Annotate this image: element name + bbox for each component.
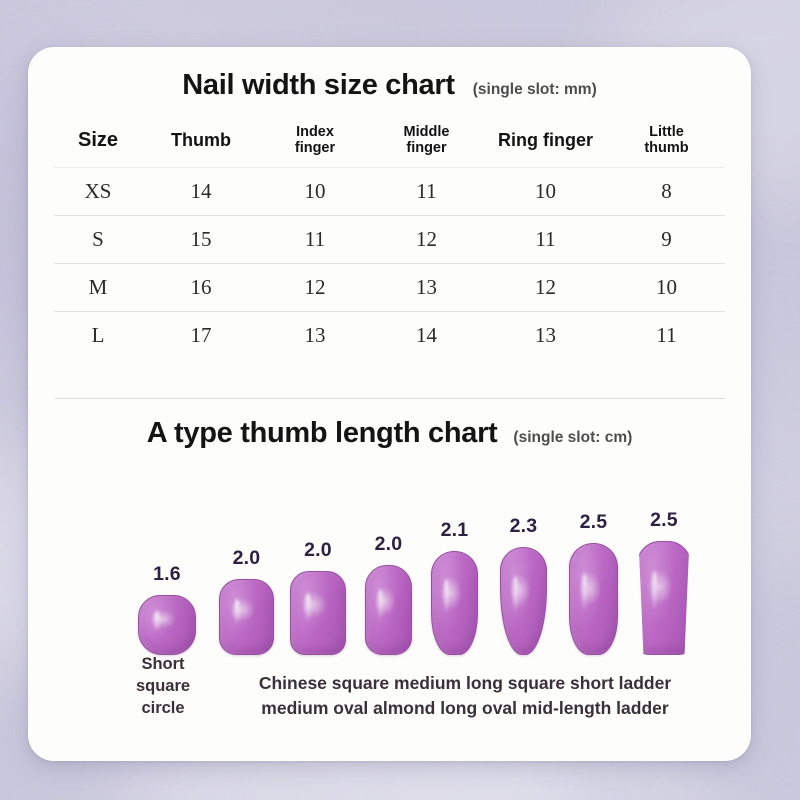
column-header-index-line2: finger: [295, 140, 335, 156]
cell-middle: 11: [370, 167, 483, 215]
column-header-ring-line1: Ring finger: [498, 130, 593, 150]
column-header-little-line2: thumb: [644, 140, 688, 156]
nail-item-1: 1.6: [138, 563, 196, 655]
caption-shape-names-line1: Chinese square medium long square short …: [210, 671, 720, 696]
cell-ring: 11: [483, 215, 608, 263]
nail-item-5: 2.1: [431, 519, 478, 655]
length-section-header: A type thumb length chart (single slot: …: [28, 417, 751, 450]
cell-little: 8: [608, 167, 725, 215]
nail-length-value: 2.0: [233, 547, 261, 570]
nail-length-section: A type thumb length chart (single slot: …: [28, 399, 751, 761]
cell-middle: 12: [370, 215, 483, 263]
cell-little: 11: [608, 311, 725, 359]
column-header-size: Size: [54, 115, 142, 167]
cell-middle: 14: [370, 311, 483, 359]
cell-thumb: 17: [142, 311, 260, 359]
nail-shape-almond-icon: [500, 547, 547, 655]
nail-length-value: 2.1: [441, 519, 469, 542]
cell-middle: 13: [370, 263, 483, 311]
cell-size: L: [54, 311, 142, 359]
cell-ring: 10: [483, 167, 608, 215]
cell-index: 12: [260, 263, 370, 311]
page-title: Nail width size chart: [182, 69, 455, 102]
column-header-middle-line2: finger: [406, 140, 446, 156]
nail-shape-chinese-square-icon: [219, 579, 274, 655]
nail-shape-strip: 1.6 2.0 2.0 2.0 2.1 2.3: [96, 475, 696, 655]
table-row: M 16 12 13 12 10: [54, 263, 725, 311]
cell-size: S: [54, 215, 142, 263]
nail-width-section: Nail width size chart (single slot: mm) …: [28, 47, 751, 399]
nail-shape-long-oval-icon: [569, 543, 618, 655]
cell-little: 9: [608, 215, 725, 263]
width-unit-note: (single slot: mm): [473, 81, 597, 99]
cell-size: M: [54, 263, 142, 311]
nail-item-4: 2.0: [365, 533, 412, 655]
nail-item-3: 2.0: [290, 539, 346, 655]
nail-length-value: 2.0: [304, 539, 332, 562]
column-header-little-thumb: Littlethumb: [608, 115, 725, 167]
column-header-index-line1: Index: [296, 124, 334, 140]
cell-ring: 12: [483, 263, 608, 311]
column-header-middle-line1: Middle: [404, 124, 450, 140]
column-header-thumb: Thumb: [142, 115, 260, 167]
cell-thumb: 16: [142, 263, 260, 311]
column-header-size-line1: Size: [78, 129, 118, 151]
table-row: L 17 13 14 13 11: [54, 311, 725, 359]
table-row: XS 14 10 11 10 8: [54, 167, 725, 215]
nail-length-value: 2.0: [375, 533, 403, 556]
nail-shape-medium-square-icon: [290, 571, 346, 655]
caption-short-square-circle: Short square circle: [117, 654, 209, 720]
nail-shape-medium-oval-icon: [431, 551, 478, 655]
cell-index: 10: [260, 167, 370, 215]
nail-shape-long-square-icon: [365, 565, 412, 655]
cell-index: 11: [260, 215, 370, 263]
length-unit-note: (single slot: cm): [513, 429, 632, 447]
nail-item-6: 2.3: [500, 515, 547, 655]
column-header-little-line1: Little: [649, 124, 684, 140]
nail-shape-short-square-circle-icon: [138, 595, 196, 655]
nail-length-value: 2.5: [580, 511, 608, 534]
nail-length-value: 2.3: [510, 515, 538, 538]
nail-item-7: 2.5: [569, 511, 618, 655]
nail-item-2: 2.0: [219, 547, 274, 655]
caption-shape-names-line2: medium oval almond long oval mid-length …: [210, 696, 720, 721]
nail-width-table: Size Thumb Indexfinger Middlefinger Ring…: [54, 115, 725, 359]
column-header-middle-finger: Middlefinger: [370, 115, 483, 167]
column-header-index-finger: Indexfinger: [260, 115, 370, 167]
table-row: S 15 11 12 11 9: [54, 215, 725, 263]
nail-shape-mid-length-ladder-icon: [637, 541, 691, 655]
size-chart-card: Nail width size chart (single slot: mm) …: [28, 47, 751, 761]
nail-length-value: 1.6: [153, 563, 181, 586]
cell-index: 13: [260, 311, 370, 359]
column-header-ring-finger: Ring finger: [483, 115, 608, 167]
table-header-row: Size Thumb Indexfinger Middlefinger Ring…: [54, 115, 725, 167]
column-header-thumb-line1: Thumb: [171, 130, 231, 150]
cell-thumb: 14: [142, 167, 260, 215]
nail-item-8: 2.5: [637, 509, 691, 655]
width-section-header: Nail width size chart (single slot: mm): [28, 69, 751, 102]
nail-length-value: 2.5: [650, 509, 678, 532]
caption-shape-names: Chinese square medium long square short …: [210, 671, 720, 721]
cell-thumb: 15: [142, 215, 260, 263]
length-chart-title: A type thumb length chart: [147, 417, 498, 450]
cell-ring: 13: [483, 311, 608, 359]
cell-little: 10: [608, 263, 725, 311]
cell-size: XS: [54, 167, 142, 215]
